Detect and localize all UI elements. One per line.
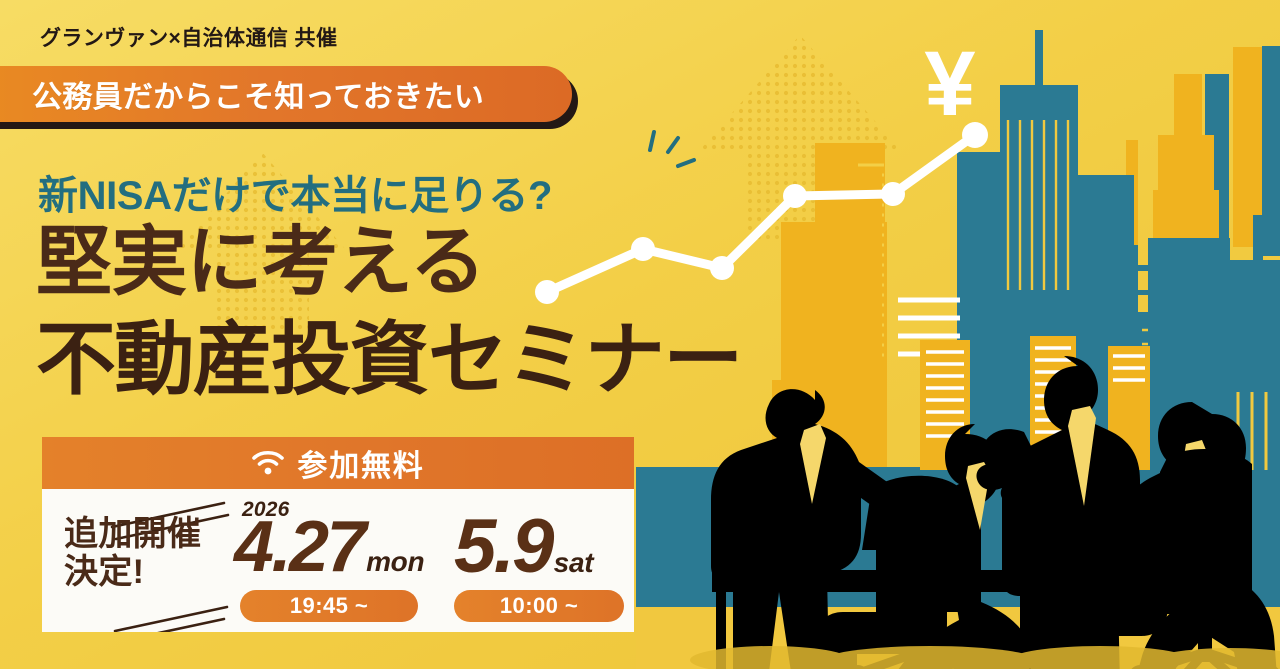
date-weekday-2: sat xyxy=(554,547,594,578)
headline-line-1: 堅実に考える xyxy=(36,225,485,301)
date-number-2: 5.9sat xyxy=(454,509,593,585)
time-pill-2: 10:00 ~ xyxy=(454,590,624,622)
badge-label: 公務員だからこそ知っておきたい xyxy=(32,72,484,116)
seminar-banner: ¥ xyxy=(0,0,1280,669)
date-weekday-1: mon xyxy=(366,546,424,577)
additional-session-line-2: 決定! xyxy=(64,553,222,591)
time-label-1: 19:45 ~ xyxy=(290,593,368,619)
svg-text:¥: ¥ xyxy=(924,33,975,135)
time-pill-1: 19:45 ~ xyxy=(240,590,418,622)
free-admission-label: 参加無料 xyxy=(297,441,424,485)
headline-line-2: 不動産投資セミナー xyxy=(36,320,742,400)
wifi-icon xyxy=(251,450,285,476)
additional-session-line-1: 追加開催 xyxy=(64,515,222,553)
date-number-1: 4.27mon xyxy=(234,511,424,583)
schedule-card: 追加開催 決定! 2026 4.27mon 19:45 ~ 5.9sat xyxy=(42,489,634,632)
free-admission-bar: 参加無料 xyxy=(42,437,634,489)
additional-session-text: 追加開催 決定! xyxy=(64,515,222,591)
kicker-text: グランヴァン×自治体通信 共催 xyxy=(40,22,337,52)
headline-line-2-text: 不動産投資セミナー xyxy=(36,315,742,404)
copy-column: グランヴァン×自治体通信 共催 公務員だからこそ知っておきたい 新NISAだけで… xyxy=(0,0,680,669)
date-value-2: 5.9 xyxy=(454,504,552,589)
headline-line-1-text: 堅実に考える xyxy=(36,220,485,305)
yen-symbol-icon: ¥ xyxy=(924,33,975,135)
time-label-2: 10:00 ~ xyxy=(500,593,578,619)
date-block-1: 2026 4.27mon 19:45 ~ xyxy=(234,489,434,632)
eyebrow-badge: 公務員だからこそ知っておきたい xyxy=(0,66,572,122)
subheadline: 新NISAだけで本当に足りる? xyxy=(38,163,552,221)
date-block-2: 5.9sat 10:00 ~ xyxy=(436,489,626,632)
badge-pill: 公務員だからこそ知っておきたい xyxy=(0,66,572,122)
date-value-1: 4.27 xyxy=(234,507,364,587)
